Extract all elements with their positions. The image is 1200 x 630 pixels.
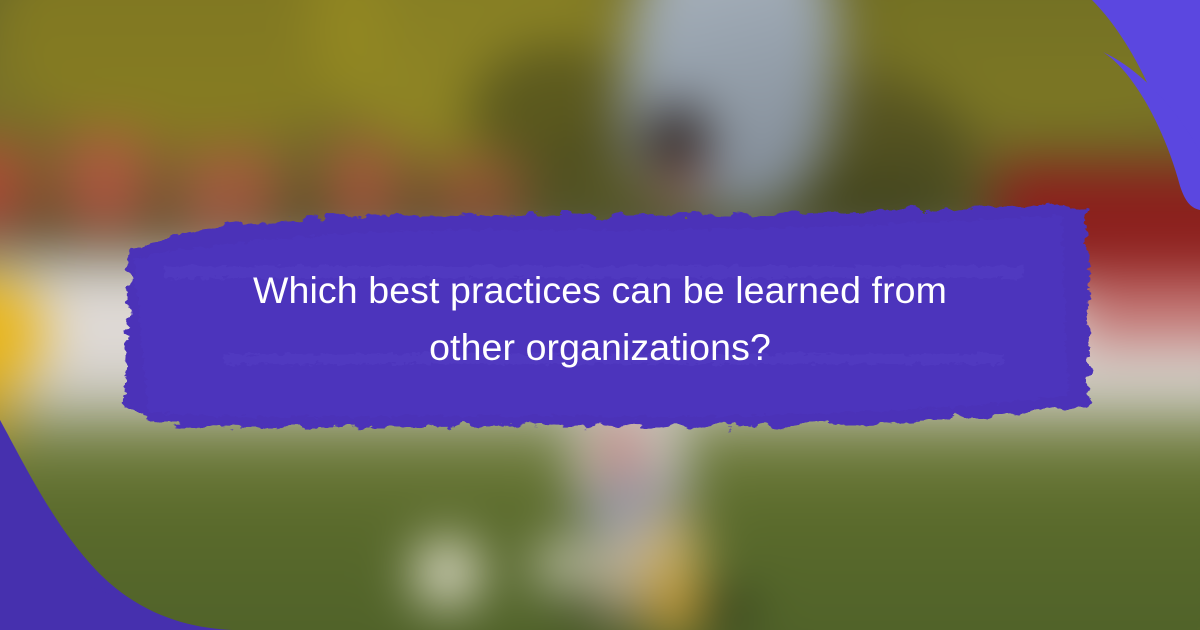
soccer-ball: [415, 540, 481, 608]
page-title: Which best practices can be learned from…: [150, 262, 1050, 376]
barrier-advert-blob: [0, 143, 32, 233]
soccer-ball-secondary: [534, 540, 592, 593]
question-card: Which best practices can be learned from…: [0, 0, 1200, 630]
player-sock: [650, 570, 698, 630]
